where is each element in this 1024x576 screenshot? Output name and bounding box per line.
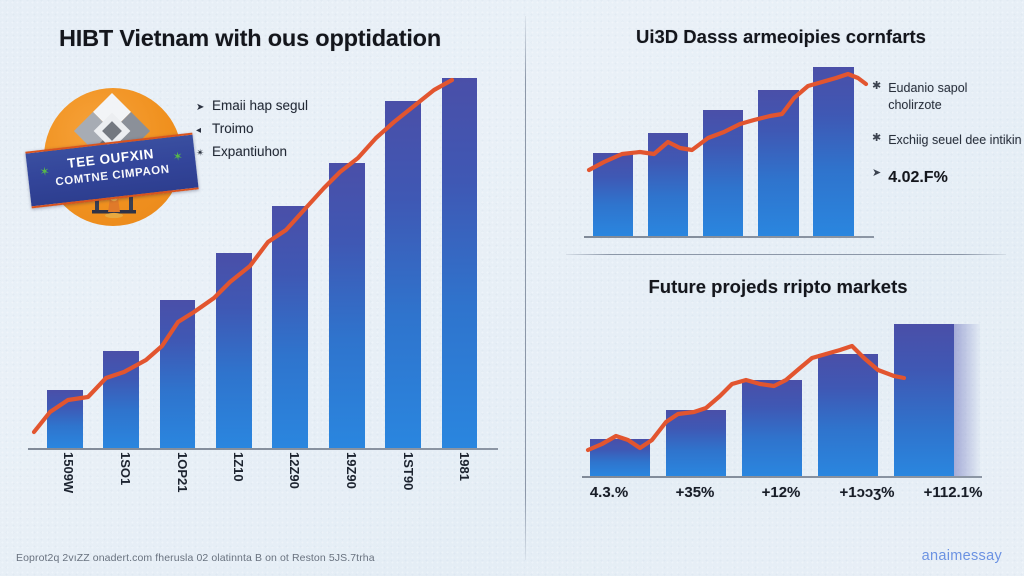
right-top-bullet-list: ✱ Eudanio sapol cholirzote ✱ Exchiig seu…: [872, 80, 1022, 206]
x-axis: [582, 476, 982, 478]
x-tick-label: 1981: [457, 452, 472, 481]
right-bottom-chart: [582, 318, 982, 478]
infographic-canvas: HIBT Vietnam with ous opptidation: [0, 0, 1024, 576]
vertical-divider: [525, 16, 526, 560]
list-item: ➤ 4.02.F%: [872, 167, 1022, 189]
x-axis: [584, 236, 874, 238]
x-tick-label: 19Z90: [344, 452, 359, 489]
bullet-label: Exchiig seuel dee intikin: [888, 132, 1021, 149]
main-growth-chart: [28, 60, 498, 450]
trend-line: [28, 60, 498, 450]
x-tick-label: 12Z90: [287, 452, 302, 489]
right-top-chart: [584, 58, 874, 238]
bullet-asterisk-icon: ✱: [872, 80, 881, 93]
right-top-title: Ui3D Dasss armeoipies cornfarts: [546, 26, 1016, 48]
list-item: ✱ Exchiig seuel dee intikin: [872, 132, 1022, 149]
stat-value: 4.02.F%: [888, 167, 948, 189]
x-tick-label: +12%: [738, 484, 824, 501]
trend-line: [584, 58, 874, 238]
trend-line: [582, 318, 982, 478]
footer-source-note: Eoprot2q 2vıZZ onadert.com fherusla 02 o…: [16, 552, 375, 564]
x-tick-label: +112.1%: [910, 484, 996, 501]
right-bottom-title: Future projeds rripto markets: [542, 276, 1014, 298]
x-tick-label: 1OP21: [175, 452, 190, 492]
bullet-asterisk-icon: ✱: [872, 132, 881, 145]
x-tick-label: 1Z10: [231, 452, 246, 482]
page-title: HIBT Vietnam with ous opptidation: [0, 25, 500, 52]
watermark-logo: anaimessay: [922, 548, 1002, 564]
x-axis: [28, 448, 498, 450]
horizontal-divider: [566, 254, 1006, 255]
bullet-arrow-icon: ➤: [872, 167, 881, 180]
x-tick-label: 1509W: [61, 452, 76, 493]
x-tick-label: 1SO1: [118, 452, 133, 485]
right-bottom-panel: Future projeds rripto markets 4.3.% +35%…: [526, 256, 1024, 576]
left-panel: HIBT Vietnam with ous opptidation: [0, 0, 518, 576]
x-tick-label: +1ɔɔʒ%: [824, 484, 910, 501]
bullet-label: Eudanio sapol cholirzote: [888, 80, 1022, 114]
x-tick-label: 4.3.%: [566, 484, 652, 501]
list-item: ✱ Eudanio sapol cholirzote: [872, 80, 1022, 114]
right-bottom-x-axis-labels: 4.3.% +35% +12% +1ɔɔʒ% +112.1%: [566, 484, 996, 501]
right-top-panel: Ui3D Dasss armeoipies cornfarts ✱ Eudani…: [526, 0, 1024, 256]
main-chart-x-axis-labels: 1509W 1SO1 1OP21 1Z10 12Z90 19Z90 1ST90 …: [28, 452, 498, 532]
x-tick-label: 1ST90: [401, 452, 416, 490]
x-tick-label: +35%: [652, 484, 738, 501]
